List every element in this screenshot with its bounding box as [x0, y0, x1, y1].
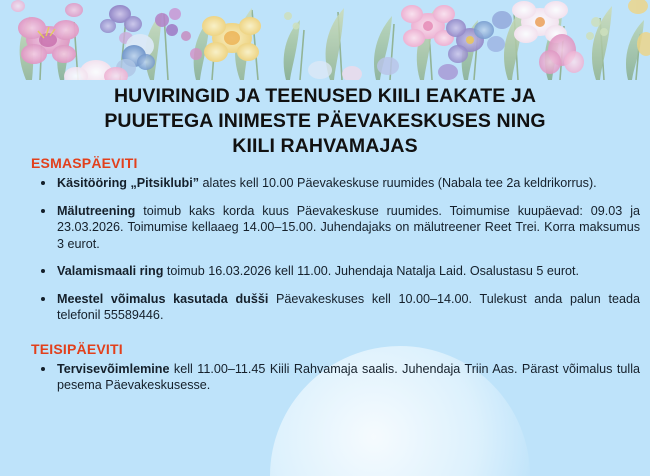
poster-canvas: HUVIRINGID JA TEENUSED KIILI EAKATE JA P…: [0, 0, 650, 476]
item-lead: Tervisevõimlemine: [57, 362, 169, 376]
monday-activity-list: Käsitööring „Pitsiklubi” alates kell 10.…: [0, 175, 650, 324]
poster-content: ESMASPÄEVITI Käsitööring „Pitsiklubi” al…: [0, 155, 650, 405]
list-item: Valamismaali ring toimub 16.03.2026 kell…: [40, 263, 640, 280]
item-lead: Meestel võimalus kasutada dušši: [57, 292, 268, 306]
item-text: toimub kaks korda kuus Päevakeskuse ruum…: [57, 204, 640, 251]
item-lead: Käsitööring „Pitsiklubi”: [57, 176, 199, 190]
tuesday-activity-list: Tervisevõimlemine kell 11.00–11.45 Kiili…: [0, 361, 650, 394]
poster-title: HUVIRINGID JA TEENUSED KIILI EAKATE JA P…: [0, 84, 650, 159]
section-heading-monday: ESMASPÄEVITI: [31, 155, 650, 171]
item-text: alates kell 10.00 Päevakeskuse ruumides …: [199, 176, 597, 190]
list-item: Käsitööring „Pitsiklubi” alates kell 10.…: [40, 175, 640, 192]
item-lead: Valamismaali ring: [57, 264, 163, 278]
list-item: Mälutreening toimub kaks korda kuus Päev…: [40, 203, 640, 253]
item-lead: Mälutreening: [57, 204, 135, 218]
title-line-2: PUUETEGA INIMESTE PÄEVAKESKUSES NING: [0, 109, 650, 134]
item-text: toimub 16.03.2026 kell 11.00. Juhendaja …: [163, 264, 579, 278]
list-item: Meestel võimalus kasutada dušši Päevakes…: [40, 291, 640, 324]
section-heading-tuesday: TEISIPÄEVITI: [31, 341, 650, 357]
list-item: Tervisevõimlemine kell 11.00–11.45 Kiili…: [40, 361, 640, 394]
title-line-1: HUVIRINGID JA TEENUSED KIILI EAKATE JA: [0, 84, 650, 109]
floral-header-band: [0, 0, 650, 80]
